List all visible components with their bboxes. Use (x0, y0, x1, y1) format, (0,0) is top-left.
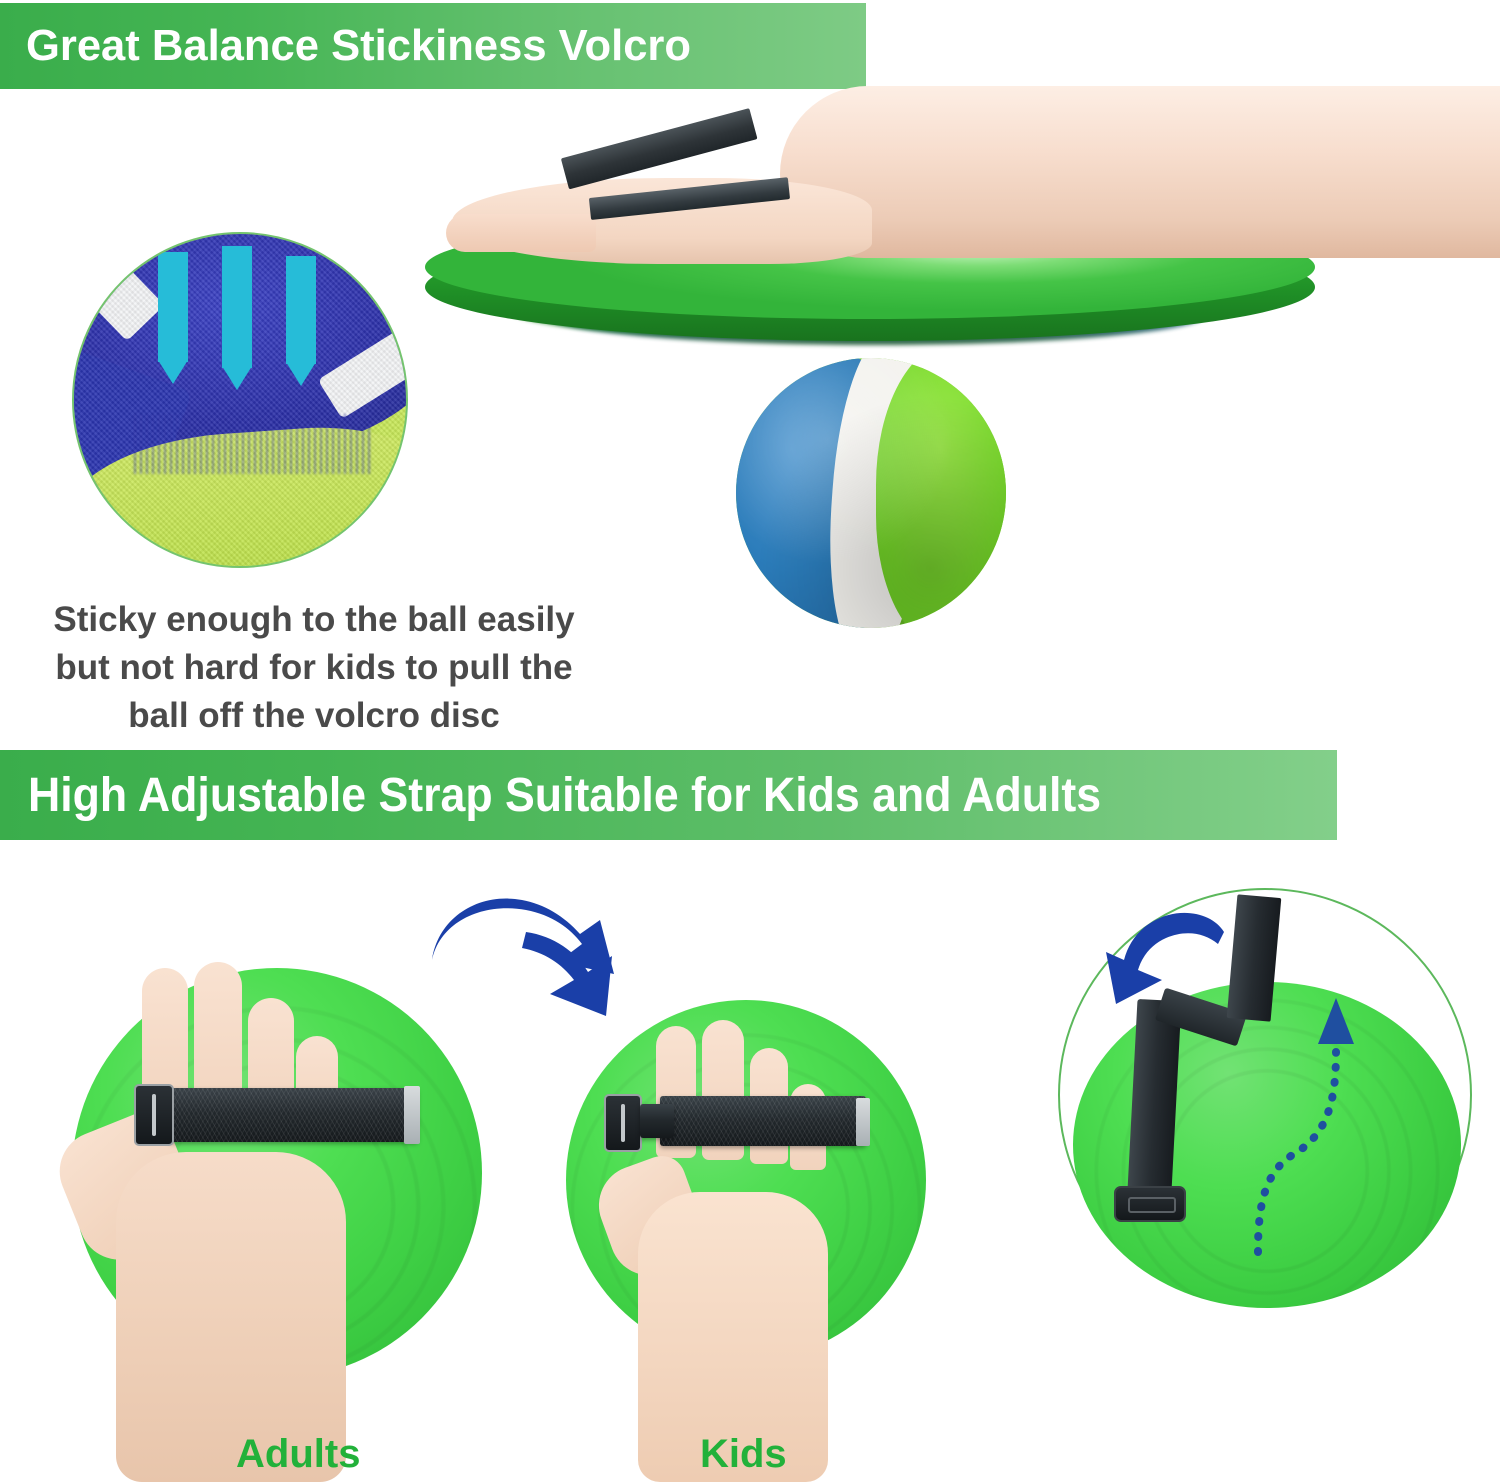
adult-hand (78, 962, 398, 1482)
kids-strap-buckle (604, 1094, 642, 1152)
buckle-bar (152, 1094, 156, 1136)
buckle-bar (621, 1104, 625, 1143)
down-arrow-icon-3 (286, 256, 316, 364)
adults-strap-tip (404, 1086, 420, 1144)
kids-label: Kids (700, 1432, 787, 1477)
section-banner-stickiness: Great Balance Stickiness Volcro (0, 3, 866, 89)
velcro-closeup-circle (72, 232, 408, 568)
caption-line-1: Sticky enough to the ball easily (8, 596, 620, 644)
dotted-path-arrow-icon (1190, 940, 1370, 1260)
ball-shading (736, 358, 1006, 628)
adults-strap (168, 1088, 418, 1142)
down-arrow-icon-1 (158, 252, 188, 362)
banner-title-stickiness: Great Balance Stickiness Volcro (26, 21, 691, 71)
section-banner-strap: High Adjustable Strap Suitable for Kids … (0, 750, 1337, 840)
strap-weave-texture (660, 1096, 866, 1146)
product-infographic: Great Balance Stickiness Volcro (0, 0, 1500, 1482)
strap-weave-texture (168, 1088, 418, 1142)
adult-arm (780, 86, 1500, 258)
detail-strap-buckle (1114, 1186, 1186, 1222)
kids-strap-tip (856, 1098, 870, 1146)
caption-line-3: ball off the volcro disc (8, 692, 620, 740)
fingertips (446, 214, 596, 252)
down-arrow-icon-2 (222, 246, 252, 368)
child-hand (608, 1012, 876, 1482)
stickiness-caption: Sticky enough to the ball easily but not… (8, 596, 620, 740)
adults-strap-buckle (134, 1084, 174, 1146)
velcro-ball (736, 358, 1006, 628)
adults-label: Adults (236, 1432, 360, 1477)
kids-strap-slack (640, 1104, 674, 1138)
banner-title-strap: High Adjustable Strap Suitable for Kids … (28, 768, 1101, 823)
kids-strap (660, 1096, 866, 1146)
flow-arrow-icon (430, 898, 616, 1030)
caption-line-2: but not hard for kids to pull the (8, 644, 620, 692)
